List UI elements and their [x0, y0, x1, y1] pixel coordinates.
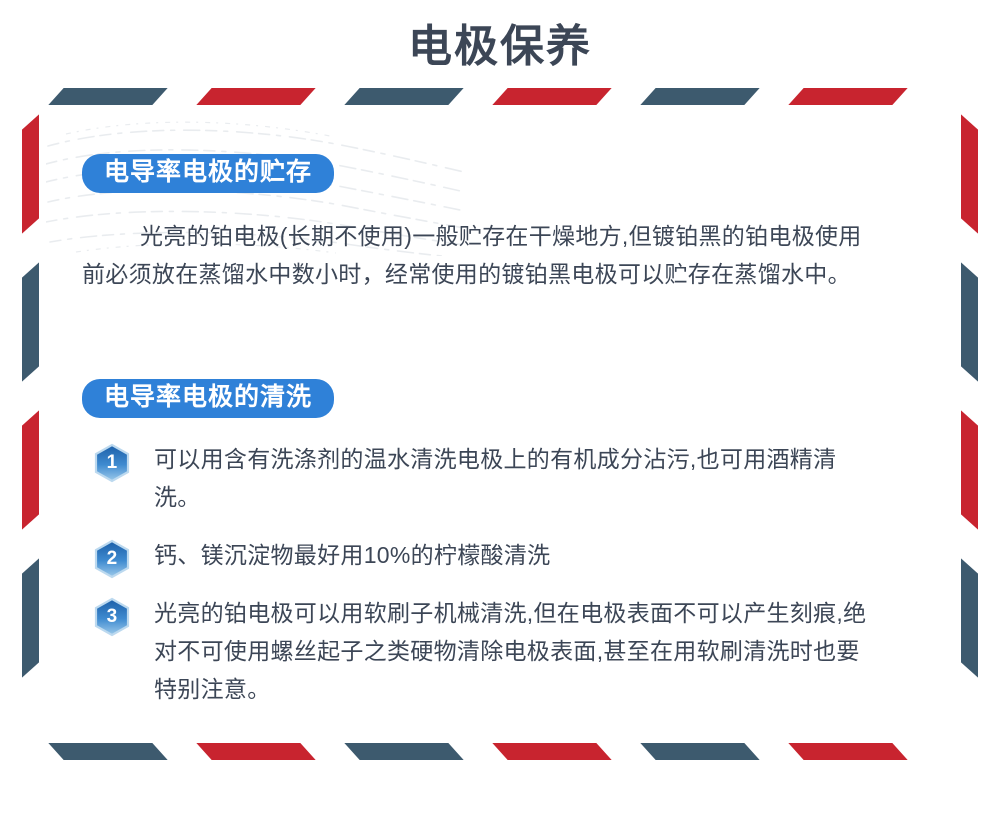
- step-number: 1: [92, 443, 132, 483]
- airmail-envelope-frame: 电导率电极的贮存 光亮的铂电极(长期不使用)一般贮存在干燥地方,但镀铂黑的铂电极…: [22, 88, 978, 760]
- list-item: 3 光亮的铂电极可以用软刷子机械清洗,但在电极表面不可以产生刻痕,绝对不可使用螺…: [82, 594, 882, 708]
- border-stripe: [344, 743, 463, 760]
- step-text: 光亮的铂电极可以用软刷子机械清洗,但在电极表面不可以产生刻痕,绝对不可使用螺丝起…: [154, 600, 866, 702]
- border-stripe: [48, 88, 167, 105]
- step-number: 3: [92, 597, 132, 637]
- border-stripe: [788, 743, 907, 760]
- step-text: 钙、镁沉淀物最好用10%的柠檬酸清洗: [154, 542, 550, 568]
- border-stripe: [196, 743, 315, 760]
- border-stripe: [22, 262, 39, 381]
- list-item: 1 可以用含有洗涤剂的温水清洗电极上的有机成分沾污,也可用酒精清洗。: [82, 440, 882, 516]
- step-number: 2: [92, 539, 132, 579]
- list-item: 2 钙、镁沉淀物最好用10%的柠檬酸清洗: [82, 536, 882, 574]
- hexagon-number-icon: 2: [92, 539, 132, 579]
- section-cleaning: 电导率电极的清洗: [82, 379, 922, 708]
- section-spacer: [82, 293, 922, 379]
- border-stripe: [961, 558, 978, 677]
- border-stripe: [48, 743, 167, 760]
- border-stripe: [22, 558, 39, 677]
- page-title: 电极保养: [0, 18, 1000, 76]
- hexagon-number-icon: 1: [92, 443, 132, 483]
- border-stripe: [961, 114, 978, 233]
- content-area: 电导率电极的贮存 光亮的铂电极(长期不使用)一般贮存在干燥地方,但镀铂黑的铂电极…: [82, 154, 922, 728]
- border-stripe: [640, 88, 759, 105]
- section-badge-cleaning: 电导率电极的清洗: [82, 379, 334, 418]
- border-stripe: [788, 88, 907, 105]
- border-stripe: [961, 410, 978, 529]
- border-stripe: [196, 88, 315, 105]
- border-stripe: [344, 88, 463, 105]
- storage-paragraph: 光亮的铂电极(长期不使用)一般贮存在干燥地方,但镀铂黑的铂电极使用前必须放在蒸馏…: [82, 217, 872, 293]
- border-stripe: [492, 88, 611, 105]
- border-stripe: [961, 262, 978, 381]
- border-stripe: [22, 114, 39, 233]
- border-stripe: [22, 410, 39, 529]
- infographic-page: 电极保养 电导率电极的贮存 光亮的: [0, 0, 1000, 822]
- border-stripe: [492, 743, 611, 760]
- hexagon-number-icon: 3: [92, 597, 132, 637]
- section-storage: 电导率电极的贮存 光亮的铂电极(长期不使用)一般贮存在干燥地方,但镀铂黑的铂电极…: [82, 154, 922, 293]
- section-badge-storage: 电导率电极的贮存: [82, 154, 334, 193]
- cleaning-steps-list: 1 可以用含有洗涤剂的温水清洗电极上的有机成分沾污,也可用酒精清洗。 2 钙、镁…: [82, 440, 922, 708]
- step-text: 可以用含有洗涤剂的温水清洗电极上的有机成分沾污,也可用酒精清洗。: [154, 446, 836, 510]
- border-stripe: [640, 743, 759, 760]
